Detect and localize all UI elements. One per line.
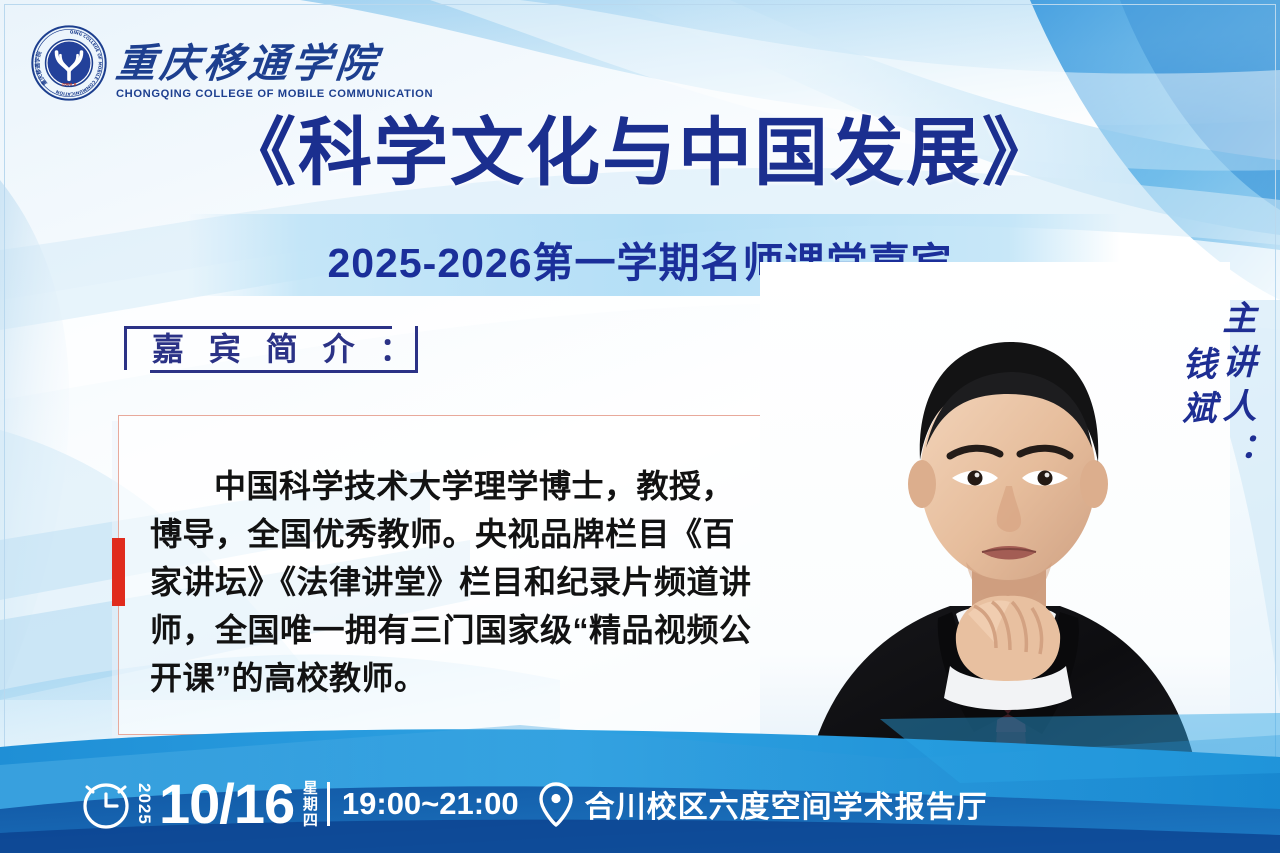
footer-time: 19:00~21:00 <box>342 786 519 822</box>
intro-accent-bar <box>112 538 125 606</box>
location-pin-icon <box>537 781 575 827</box>
logo-name-en: CHONGQING COLLEGE OF MOBILE COMMUNICATIO… <box>116 88 433 100</box>
heading-label: 嘉 宾 简 介 ： <box>152 330 420 368</box>
logo-name-cn: 重庆移通学院 <box>114 43 436 85</box>
footer-weekday: 星期四 <box>301 780 317 828</box>
guest-intro-heading: 嘉 宾 简 介 ： <box>98 308 420 390</box>
footer-year: 2025 <box>136 783 153 825</box>
institution-logo: 重庆移通学院 CHONGQING COLLEGE OF MOBILE COMMU… <box>30 24 433 102</box>
footer-divider <box>327 782 330 826</box>
speaker-vertical-label: 主讲人： 钱斌 <box>1178 300 1252 476</box>
speaker-name: 钱斌 <box>1178 300 1212 476</box>
heading-rule-bottom <box>150 370 418 373</box>
speaker-role-label: 主讲人： <box>1218 300 1252 476</box>
footer-date: 10/16 <box>159 776 294 832</box>
footer-location: 合川校区六度空间学术报告厅 <box>585 782 988 826</box>
heading-rule-left <box>124 326 127 370</box>
college-emblem-icon: 重庆移通学院 CHONGQING COLLEGE OF MOBILE COMMU… <box>30 24 108 102</box>
logo-wordmark: 重庆移通学院 CHONGQING COLLEGE OF MOBILE COMMU… <box>116 43 433 102</box>
svg-text:2000.8: 2000.8 <box>61 82 76 87</box>
guest-intro-text: 中国科学技术大学理学博士，教授，博导，全国优秀教师。央视品牌栏目《百家讲坛》《法… <box>150 462 760 702</box>
clock-icon <box>78 776 134 832</box>
title-block: 《科学文化与中国发展》 <box>0 116 1280 190</box>
heading-rule-top <box>124 326 392 329</box>
page-title: 《科学文化与中国发展》 <box>0 116 1280 190</box>
poster-root: 重庆移通学院 CHONGQING COLLEGE OF MOBILE COMMU… <box>0 0 1280 853</box>
footer-details: 2025 10/16 星期四 19:00~21:00 合川校区六度空间学术报告厅 <box>78 771 988 837</box>
